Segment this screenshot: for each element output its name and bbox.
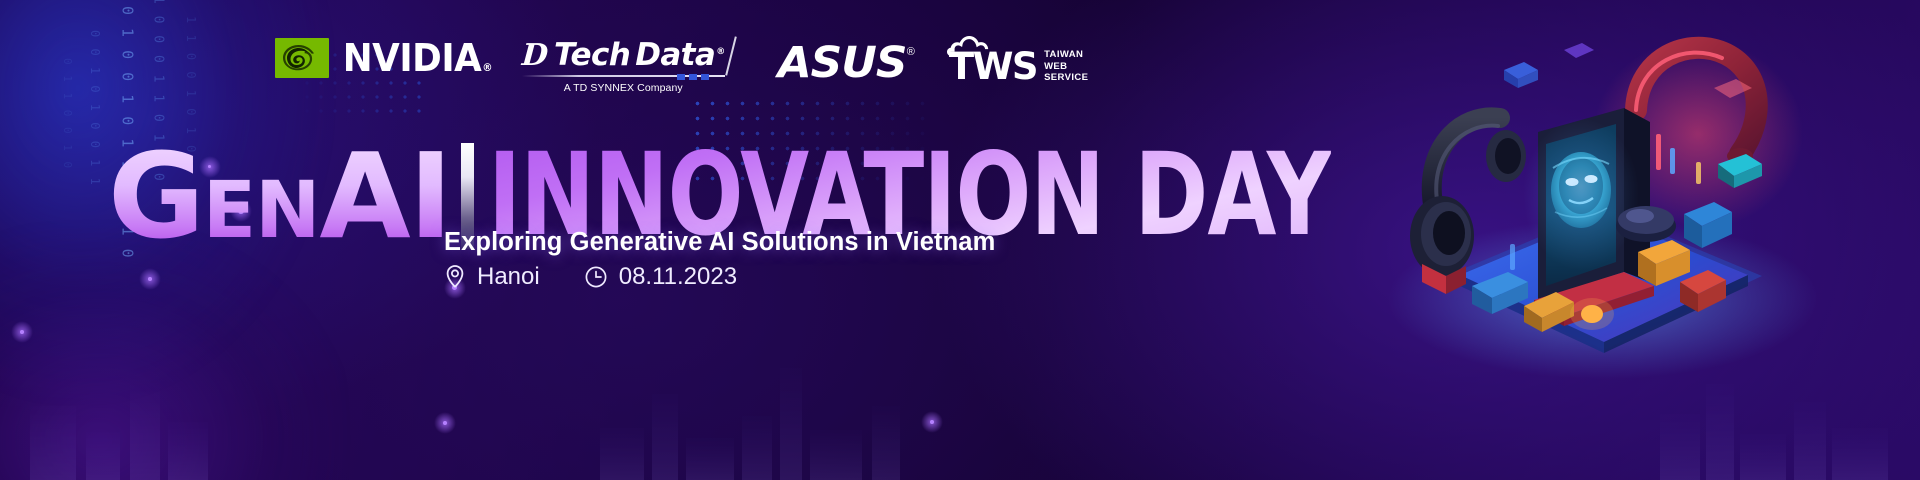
- techdata-dot-decor: [677, 74, 709, 80]
- cloud-icon: [947, 31, 1013, 57]
- tws-tagline-line2: WEB: [1044, 61, 1088, 72]
- nvidia-eye-logo-icon: [275, 38, 329, 78]
- binary-code-column: 0 1 1 0 0 1 0: [60, 58, 73, 170]
- brand-genai-g: G: [108, 142, 203, 251]
- event-location: Hanoi: [444, 263, 540, 291]
- event-date-label: 08.11.2023: [619, 263, 737, 291]
- event-date: 08.11.2023: [584, 263, 737, 291]
- sponsor-logo-row: NVIDIA® D TechData® A TD SYNNEX Company …: [275, 38, 1088, 100]
- asus-wordmark: ASUS: [777, 42, 906, 85]
- techdata-tagline: A TD SYNNEX Company: [522, 82, 725, 94]
- clock-icon: [584, 265, 608, 289]
- techdata-slash-decor: [725, 36, 737, 75]
- brand-genai-en: EN: [203, 176, 320, 248]
- asus-trademark: ®: [907, 46, 915, 58]
- sponsor-logo-asus[interactable]: ASUS ®: [779, 38, 915, 85]
- tws-tagline: TAIWAN WEB SERVICE: [1044, 49, 1088, 83]
- sponsor-logo-tws[interactable]: TWS TAIWAN WEB SERVICE: [949, 38, 1089, 85]
- sponsor-logo-nvidia[interactable]: NVIDIA®: [275, 38, 496, 78]
- binary-code-column: 0 0 1 0 1 0 0 1 1: [88, 30, 102, 187]
- nvidia-trademark: ®: [482, 61, 492, 74]
- nvidia-wordmark: NVIDIA®: [343, 39, 491, 77]
- techdata-wordmark: TechData®: [554, 40, 725, 71]
- event-banner: 0 1 0 0 1 0 1 1 0 0 1 0 1 0 0 0 1 1 0 1 …: [0, 0, 1920, 480]
- event-subtitle: Exploring Generative AI Solutions in Vie…: [444, 228, 995, 257]
- location-pin-icon: [444, 264, 466, 290]
- brand-genai: GENAI: [108, 142, 451, 251]
- event-meta-row: Hanoi 08.11.2023: [444, 263, 737, 291]
- brand-genai-ai: AI: [319, 142, 450, 251]
- sparkle-icon: [148, 277, 152, 281]
- sponsor-logo-techdata[interactable]: D TechData® A TD SYNNEX Company: [522, 38, 725, 94]
- tws-tagline-line1: TAIWAN: [1044, 49, 1088, 60]
- tws-tagline-line3: SERVICE: [1044, 72, 1088, 83]
- techdata-monogram: D: [521, 41, 549, 71]
- isometric-ai-tech-illustration: [1388, 14, 1828, 386]
- event-location-label: Hanoi: [477, 263, 540, 291]
